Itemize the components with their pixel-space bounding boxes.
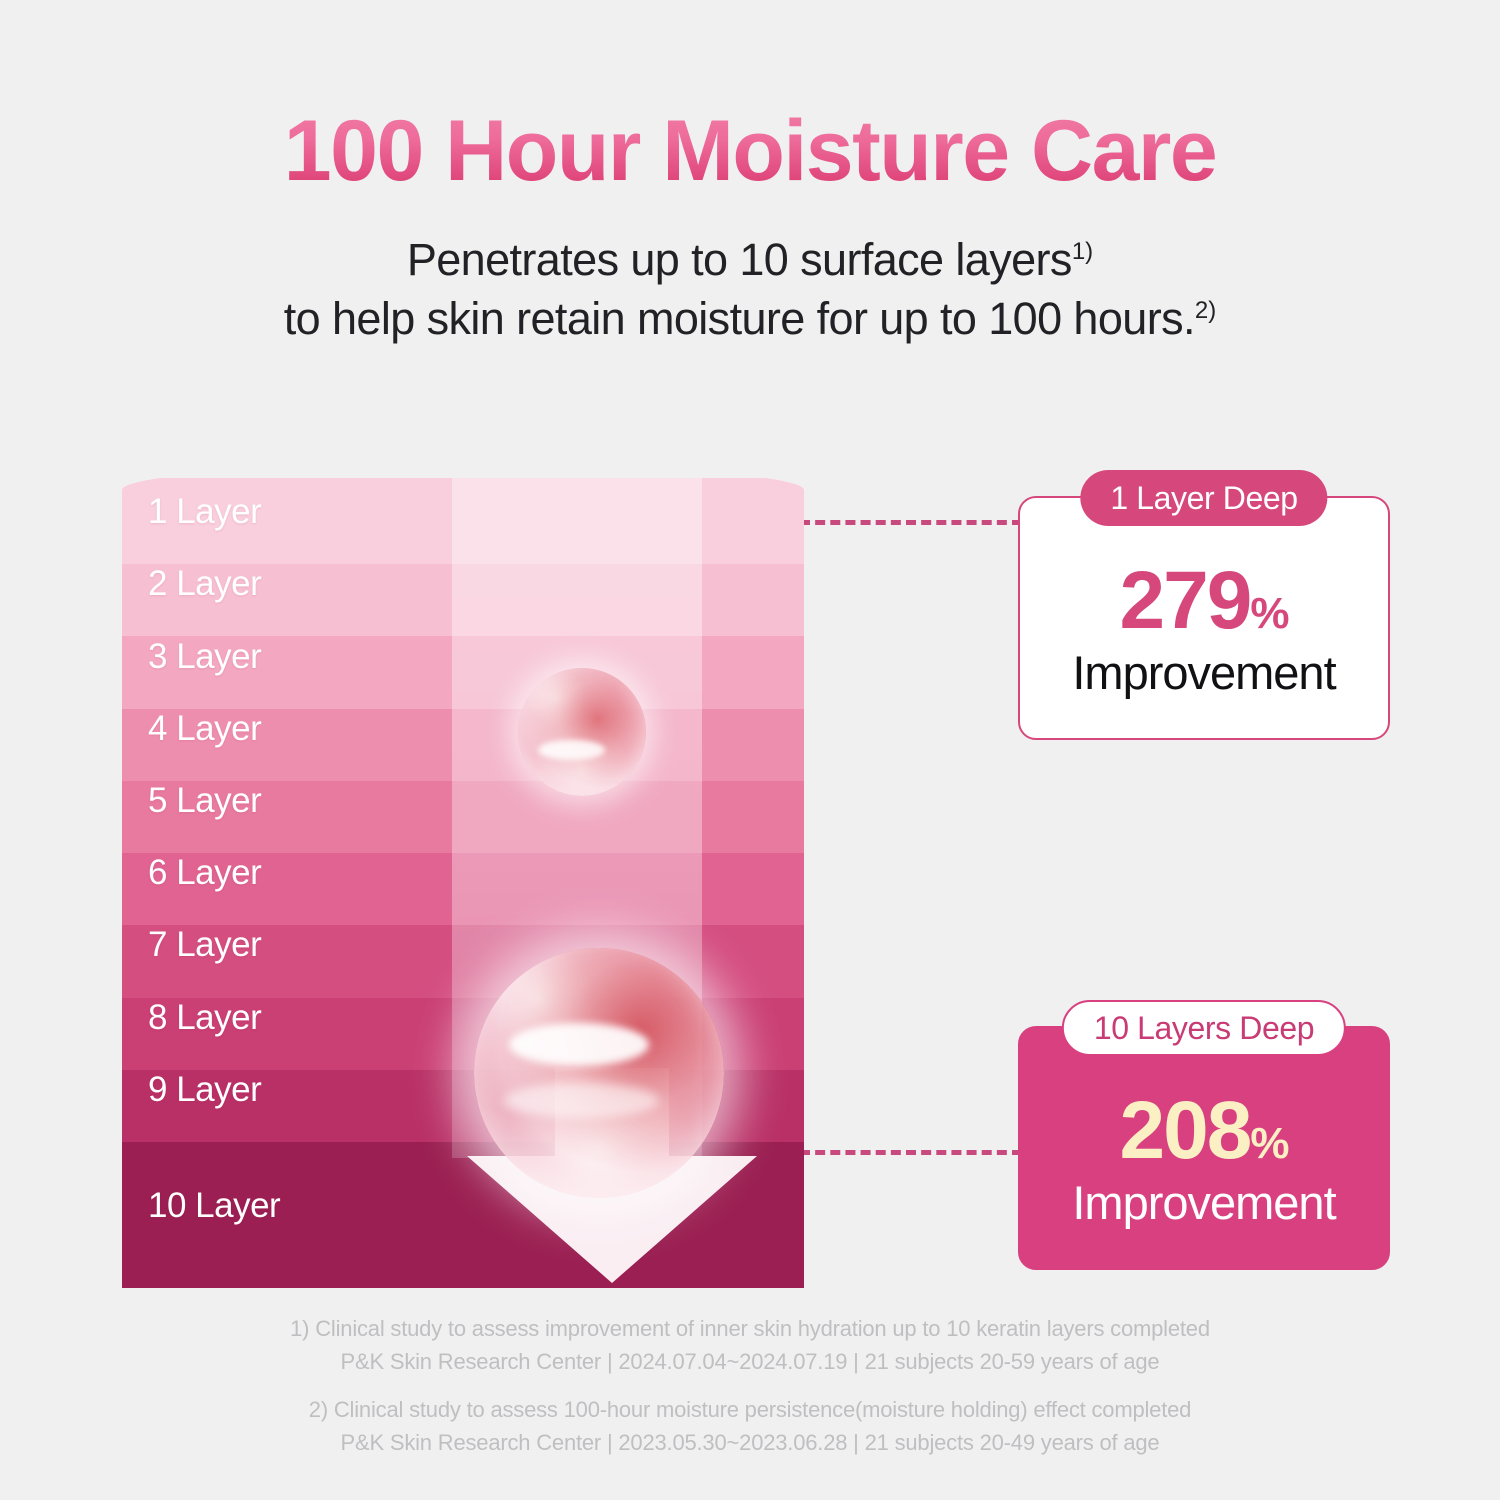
footnote-marker-2: 2) [1195, 297, 1216, 324]
subtitle-line-2: to help skin retain moisture for up to 1… [0, 289, 1500, 348]
header: 100 Hour Moisture Care Penetrates up to … [0, 0, 1500, 349]
connector-line-bottom [800, 1150, 1022, 1155]
subtitle-line-1-text: Penetrates up to 10 surface layers [407, 234, 1072, 285]
skin-layer-label: 6 Layer [148, 853, 261, 893]
skin-layer-label: 8 Layer [148, 998, 261, 1038]
stat-caption-10-layers: Improvement [1020, 1178, 1388, 1227]
card-body-10-layers: 208 % Improvement [1020, 1090, 1388, 1227]
subtitle-line-1: Penetrates up to 10 surface layers1) [0, 230, 1500, 289]
footnotes: 1) Clinical study to assess improvement … [0, 1312, 1500, 1460]
footnote-line: P&K Skin Research Center | 2023.05.30~20… [0, 1426, 1500, 1459]
moisture-droplet-small-icon [518, 668, 646, 796]
skin-layer-label: 2 Layer [148, 564, 261, 604]
stat-row-1-layer: 279 % [1020, 560, 1388, 642]
page-title: 100 Hour Moisture Care [0, 108, 1500, 194]
footnote-spacer [0, 1379, 1500, 1393]
footnote-line: P&K Skin Research Center | 2024.07.04~20… [0, 1345, 1500, 1378]
stat-caption-1-layer: Improvement [1020, 648, 1388, 697]
result-card-1-layer: 1 Layer Deep 279 % Improvement [1018, 496, 1390, 740]
subtitle: Penetrates up to 10 surface layers1) to … [0, 230, 1500, 349]
stat-unit-1-layer: % [1250, 592, 1288, 636]
stat-row-10-layers: 208 % [1020, 1090, 1388, 1172]
stat-value-1-layer: 279 [1120, 560, 1251, 642]
moisture-droplet-large-icon [474, 948, 724, 1198]
skin-layer-label: 4 Layer [148, 709, 261, 749]
skin-layer-label: 10 Layer [148, 1186, 280, 1226]
stat-value-10-layers: 208 [1120, 1090, 1251, 1172]
footnote-line: 1) Clinical study to assess improvement … [0, 1312, 1500, 1345]
subtitle-line-2-text: to help skin retain moisture for up to 1… [284, 293, 1195, 344]
footnote-line: 2) Clinical study to assess 100-hour moi… [0, 1393, 1500, 1426]
card-badge-10-layers: 10 Layers Deep [1062, 1000, 1346, 1056]
card-badge-1-layer: 1 Layer Deep [1080, 470, 1327, 526]
skin-layer-label: 3 Layer [148, 637, 261, 677]
skin-layer-label: 5 Layer [148, 781, 261, 821]
card-body-1-layer: 279 % Improvement [1020, 560, 1388, 697]
connector-line-top [800, 520, 1022, 525]
skin-layer-label: 1 Layer [148, 492, 261, 532]
stat-unit-10-layers: % [1250, 1122, 1288, 1166]
result-card-10-layers: 10 Layers Deep 208 % Improvement [1018, 1026, 1390, 1270]
skin-layer-diagram: 1 Layer2 Layer3 Layer4 Layer5 Layer6 Lay… [122, 478, 804, 1288]
footnote-marker-1: 1) [1072, 238, 1093, 265]
skin-layer-label: 9 Layer [148, 1070, 261, 1110]
skin-layer-label: 7 Layer [148, 925, 261, 965]
